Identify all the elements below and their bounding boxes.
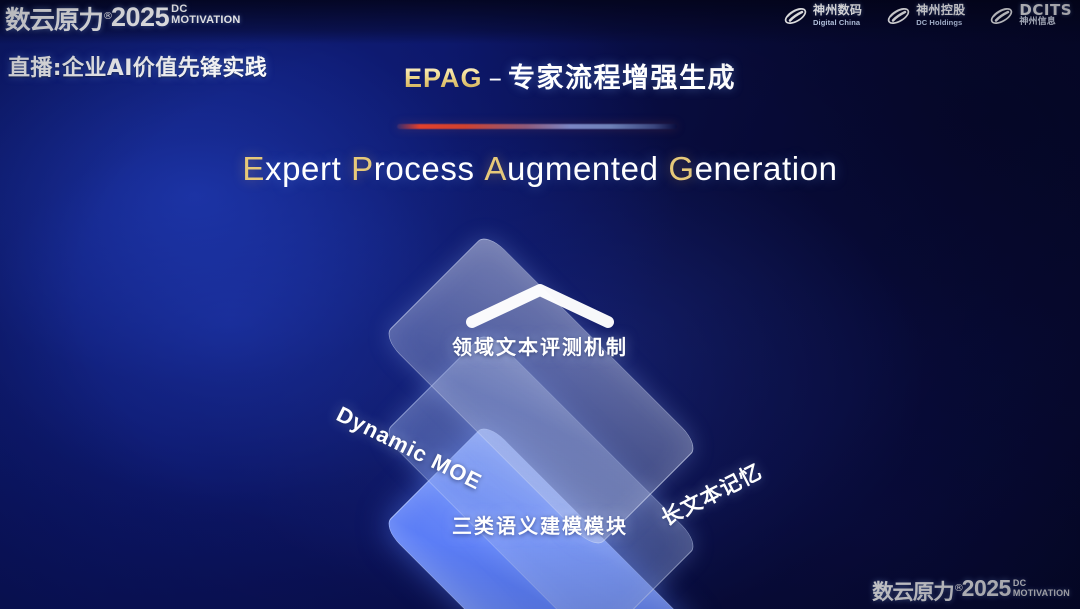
headline-chinese: 专家流程增强生成 <box>508 63 736 94</box>
subtitle-word-augmented: ugmented <box>507 150 659 187</box>
partner-text: 神州控股 DC Holdings <box>916 5 965 28</box>
subtitle-cap-e: E <box>242 150 265 187</box>
partner-logos: 神州数码 Digital China 神州控股 DC Holdings <box>783 4 1072 28</box>
layered-stack-diagram: 领域文本评测机制 Dynamic MOE 长文本记忆 三类语义建模模块 <box>290 228 790 588</box>
registered-mark: ® <box>953 583 962 594</box>
subtitle-cap-a: A <box>484 150 507 187</box>
partner-text: 神州数码 Digital China <box>813 5 862 28</box>
brand-name-cn: 数云原力® <box>5 2 112 35</box>
partner-name-en: Digital China <box>813 17 862 28</box>
chevron-up-icon <box>462 280 618 332</box>
partner-name-cn: 神州数码 <box>813 5 862 16</box>
brand-year: 2025 <box>962 576 1011 601</box>
partner-logo-digital-china: 神州数码 Digital China <box>783 4 862 28</box>
swoosh-icon <box>886 4 911 28</box>
partner-text: DCITS 神州信息 <box>1019 5 1072 28</box>
presentation-slide: 数云原力® 2025 DC MOTIVATION 直播:企业AI价值先锋实践 神… <box>0 0 1080 609</box>
brand-name-cn: 数云原力® <box>872 576 963 605</box>
brand-dc-motivation: DC MOTIVATION <box>1013 579 1070 598</box>
swoosh-icon <box>989 4 1014 28</box>
subtitle-cap-g: G <box>668 150 694 187</box>
slide-subtitle: Expert Process Augmented Generation <box>0 150 1080 188</box>
brand-logo-bottom-right: 数云原力® 2025 DC MOTIVATION <box>873 576 1070 605</box>
headline-acronym: EPAG <box>404 63 483 93</box>
partner-logo-dcits: DCITS 神州信息 <box>989 4 1072 28</box>
brand-year: 2025 <box>111 2 169 32</box>
partner-name-en: DC Holdings <box>916 17 965 28</box>
registered-mark: ® <box>103 11 112 22</box>
subtitle-word-generation: eneration <box>695 150 838 187</box>
brand-logo-top-left: 数云原力® 2025 DC MOTIVATION <box>6 2 241 35</box>
headline-dash: – <box>489 63 503 94</box>
subtitle-word-expert: xpert <box>265 150 341 187</box>
subtitle-word-process: rocess <box>374 150 475 187</box>
brand-dc-line2: MOTIVATION <box>1013 589 1070 599</box>
partner-name-en: DCITS <box>1019 5 1072 16</box>
gradient-divider <box>397 124 677 129</box>
partner-name-cn: 神州控股 <box>916 5 965 16</box>
slide-headline: EPAG–专家流程增强生成 <box>0 56 1080 95</box>
subtitle-cap-p: P <box>351 150 374 187</box>
partner-logo-dc-holdings: 神州控股 DC Holdings <box>886 4 965 28</box>
swoosh-icon <box>783 4 808 28</box>
brand-dc-motivation: DC MOTIVATION <box>171 4 240 26</box>
brand-dc-line2: MOTIVATION <box>171 15 240 26</box>
